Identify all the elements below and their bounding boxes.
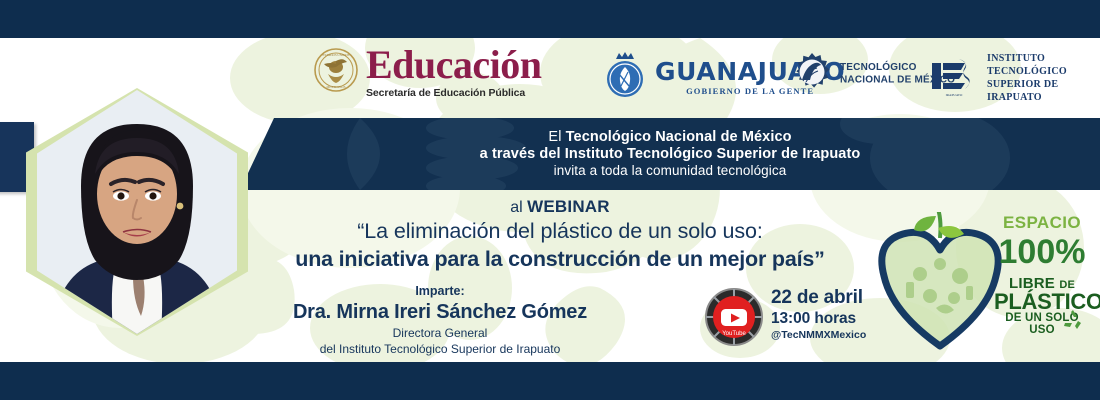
heading-band: El Tecnológico Nacional de México a trav… — [240, 118, 1100, 190]
heading-line3: invita a toda la comunidad tecnológica — [554, 163, 787, 179]
green-heart-icon — [876, 212, 1006, 352]
tecnm-gear-icon — [790, 50, 834, 99]
svg-text:IRAPUATO: IRAPUATO — [946, 93, 963, 97]
webinar-title-line1: “La eliminación del plástico de un solo … — [250, 218, 870, 246]
plastic-free-emblem: ESPACIO 100% LIBRE DE PLÁSTICO DE UN SOL… — [876, 212, 1088, 354]
heading-line2: a través del Instituto Tecnológico Super… — [480, 146, 861, 163]
youtube-label: YouTube — [722, 331, 746, 337]
event-handle: @TecNMMXMexico — [771, 329, 866, 343]
event-date: 22 de abril — [771, 286, 866, 309]
logo-itesi: IRAPUATO INSTITUTO TECNOLÓGICO SUPERIOR … — [928, 52, 1100, 104]
youtube-icon[interactable]: YouTube — [705, 288, 763, 346]
webinar-label: WEBINAR — [527, 197, 610, 216]
top-navy-bar — [0, 0, 1100, 38]
speaker-name: Dra. Mirna Ireri Sánchez Gómez — [250, 299, 630, 326]
bottom-navy-bar — [0, 362, 1100, 400]
emblem-percent-icon: 100% — [994, 231, 1090, 271]
webinar-banner: ESTADOS UNIDOS MEXICANOS Educación Secre… — [0, 0, 1100, 400]
event-datetime: 22 de abril 13:00 horas @TecNMMXMexico — [771, 286, 866, 342]
speaker-organization: del Instituto Tecnológico Superior de Ir… — [250, 342, 630, 357]
itesi-monogram-icon: IRAPUATO — [928, 53, 980, 104]
avatar — [37, 90, 237, 334]
imparte-label: Imparte: — [250, 283, 630, 299]
emblem-espacio: ESPACIO — [994, 214, 1090, 231]
heading-line1-prefix: El — [548, 129, 565, 145]
event-time: 13:00 horas — [771, 309, 866, 328]
sep-title: Educación — [366, 46, 542, 84]
svg-text:MEXICANOS: MEXICANOS — [327, 85, 346, 89]
sprout-icon — [914, 216, 936, 231]
recycle-icon — [1062, 308, 1084, 330]
logo-sep: ESTADOS UNIDOS MEXICANOS Educación Secre… — [314, 46, 542, 99]
mexico-coat-of-arms-icon: ESTADOS UNIDOS MEXICANOS — [314, 48, 358, 97]
webinar-al-label: al — [510, 199, 527, 216]
webinar-title-line2: una iniciativa para la construcción de u… — [250, 246, 870, 274]
heading-text: El Tecnológico Nacional de México a trav… — [240, 118, 1100, 190]
sep-subtitle: Secretaría de Educación Pública — [366, 87, 542, 99]
webinar-title-block: al WEBINAR “La eliminación del plástico … — [250, 196, 870, 274]
itesi-line2: SUPERIOR DE IRAPUATO — [987, 78, 1100, 104]
heading-line1-bold: Tecnológico Nacional de México — [566, 129, 792, 145]
itesi-line1: INSTITUTO TECNOLÓGICO — [987, 52, 1100, 78]
speaker-portrait-hexagon — [26, 88, 248, 336]
speaker-block: Imparte: Dra. Mirna Ireri Sánchez Gómez … — [250, 283, 630, 357]
svg-text:ESTADOS UNIDOS: ESTADOS UNIDOS — [323, 53, 350, 57]
event-details: YouTube 22 de abril 13:00 horas @TecNMMX… — [705, 286, 875, 348]
guanajuato-seal-icon — [602, 50, 648, 105]
speaker-role: Directora General — [250, 326, 630, 341]
emblem-100-text: 100% — [999, 233, 1086, 271]
